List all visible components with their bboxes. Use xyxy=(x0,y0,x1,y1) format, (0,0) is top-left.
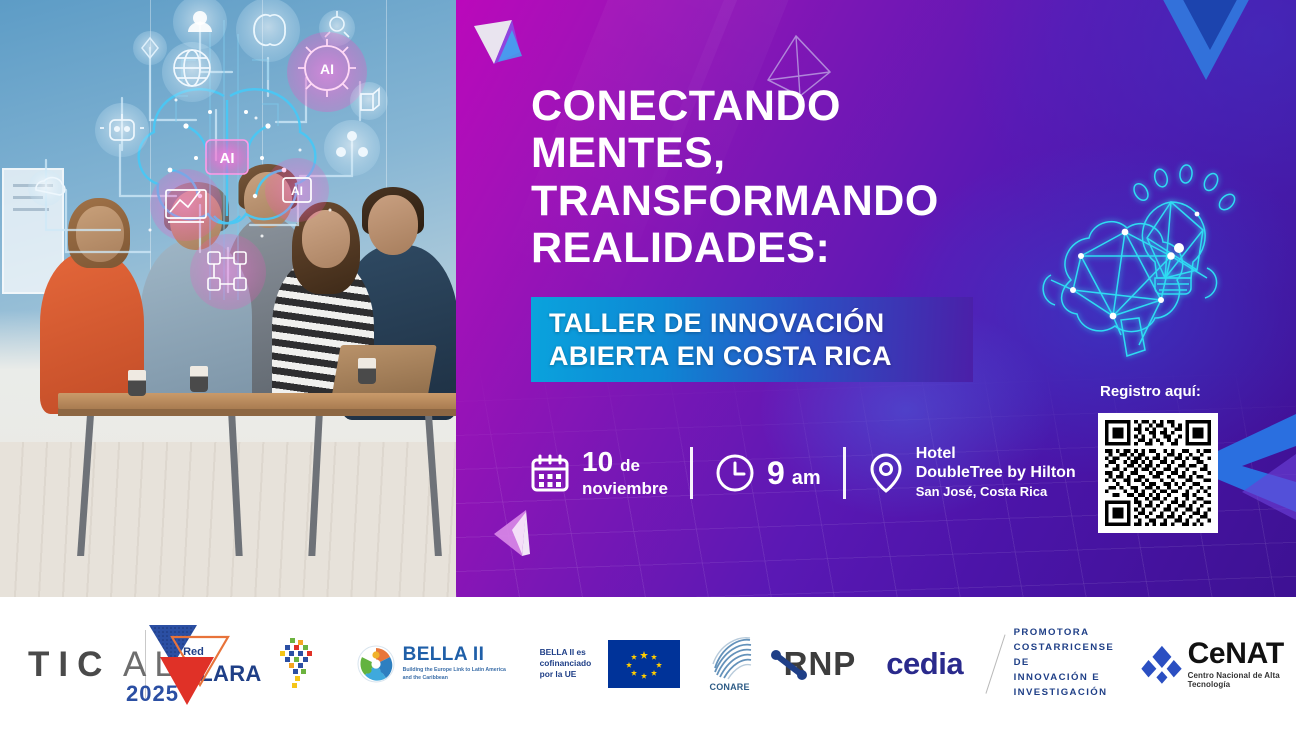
conare-globe-icon xyxy=(706,636,754,680)
cenat-name: CeNAT xyxy=(1188,639,1296,669)
eu-cofinanced-text: BELLA II es cofinanciado por la UE xyxy=(540,647,602,680)
promotora-line-2: INNOVACIÓN E INVESTIGACIÓN xyxy=(1014,671,1115,701)
coffee-cup xyxy=(358,358,376,384)
calendar-icon xyxy=(530,453,570,493)
svg-text:AI: AI xyxy=(220,150,235,167)
logo-rnp: RNP xyxy=(784,597,857,730)
bella2-title: BELLA II xyxy=(403,645,508,664)
desk-surface xyxy=(58,393,456,409)
page-title: CONECTANDO MENTES, TRANSFORMANDO REALIDA… xyxy=(531,83,1091,272)
ai-chip-icon: AI xyxy=(206,140,248,174)
meta-divider xyxy=(690,447,693,499)
rnp-connector-icon xyxy=(769,648,815,684)
clock-icon xyxy=(715,453,755,493)
conare-text: CONARE xyxy=(710,682,750,692)
headline-line-3: TRANSFORMANDO xyxy=(531,178,1091,225)
subtitle-line-1: TALLER DE INNOVACIÓN xyxy=(549,307,973,340)
laptop xyxy=(331,345,437,399)
logo-cedia: cedia xyxy=(886,597,963,730)
location-line-3: San José, Costa Rica xyxy=(916,484,1076,501)
logo-promotora: PROMOTORA COSTARRICENSE DE INNOVACIÓN E … xyxy=(995,597,1115,730)
team-meeting-photo: AI xyxy=(0,0,456,597)
meta-divider xyxy=(843,447,846,499)
prism-bottom-left-icon xyxy=(482,500,552,570)
event-details-row: 10 de noviembre 9 am xyxy=(530,440,1076,506)
european-union-flag-icon xyxy=(608,640,680,688)
bella2-globe-icon xyxy=(356,644,396,684)
logo-tical: TIC AL 2025 xyxy=(22,619,133,709)
event-date: 10 de noviembre xyxy=(530,448,668,499)
promotora-line-1: PROMOTORA COSTARRICENSE DE xyxy=(1014,626,1115,671)
tical-text-part1: TIC xyxy=(28,645,111,685)
bella2-subtitle: Building the Europe Link to Latin Americ… xyxy=(403,667,508,682)
prism-top-left-icon xyxy=(462,12,532,92)
svg-text:AI: AI xyxy=(320,61,334,77)
logo-conare: CONARE xyxy=(706,597,754,730)
registration-label: Registro aquí: xyxy=(1100,383,1280,400)
cenat-diamond-icon xyxy=(1139,635,1185,693)
logo-bella2: BELLA II Building the Europe Link to Lat… xyxy=(356,597,508,730)
svg-text:AI: AI xyxy=(291,184,303,198)
redclara-map-icon xyxy=(268,636,320,692)
subtitle-line-2: ABIERTA EN COSTA RICA xyxy=(549,340,973,373)
tical-triangles-icon xyxy=(142,623,234,711)
date-month: noviembre xyxy=(582,479,668,499)
partner-logo-bar: TIC AL 2025 Red CLARA xyxy=(0,597,1296,730)
registration-qr-code[interactable] xyxy=(1098,413,1218,533)
event-time: 9 am xyxy=(715,453,821,493)
event-banner: AI xyxy=(0,0,1296,730)
time-hour: 9 xyxy=(767,457,785,489)
hero-section: AI xyxy=(0,0,1296,597)
wood-floor xyxy=(0,442,456,597)
coffee-cup xyxy=(190,366,208,392)
promotora-divider xyxy=(986,634,1006,693)
date-preposition: de xyxy=(620,456,640,476)
cenat-subtitle: Centro Nacional de Alta Tecnología xyxy=(1188,671,1296,689)
time-period: am xyxy=(792,467,821,490)
logo-cenat: CeNAT Centro Nacional de Alta Tecnología xyxy=(1139,597,1296,730)
subtitle-banner: TALLER DE INNOVACIÓN ABIERTA EN COSTA RI… xyxy=(531,297,973,382)
ai-network-graphic: AI xyxy=(0,0,456,330)
map-pin-icon xyxy=(868,452,904,494)
headline-line-4: REALIDADES: xyxy=(531,225,1091,272)
cedia-text: cedia xyxy=(886,646,963,682)
qr-code-image xyxy=(1105,420,1211,526)
location-line-2: DoubleTree by Hilton xyxy=(916,464,1076,483)
location-line-1: Hotel xyxy=(916,445,1076,464)
event-location: Hotel DoubleTree by Hilton San José, Cos… xyxy=(868,445,1076,501)
desk-edge xyxy=(58,409,456,416)
blue-triangle-top-right-icon xyxy=(1146,0,1256,104)
date-day: 10 xyxy=(582,448,613,476)
logo-eu-cofinanced: BELLA II es cofinanciado por la UE xyxy=(540,597,680,730)
headline-line-1: CONECTANDO xyxy=(531,83,1091,130)
headline-line-2: MENTES, xyxy=(531,130,1091,177)
coffee-cup xyxy=(128,370,146,396)
